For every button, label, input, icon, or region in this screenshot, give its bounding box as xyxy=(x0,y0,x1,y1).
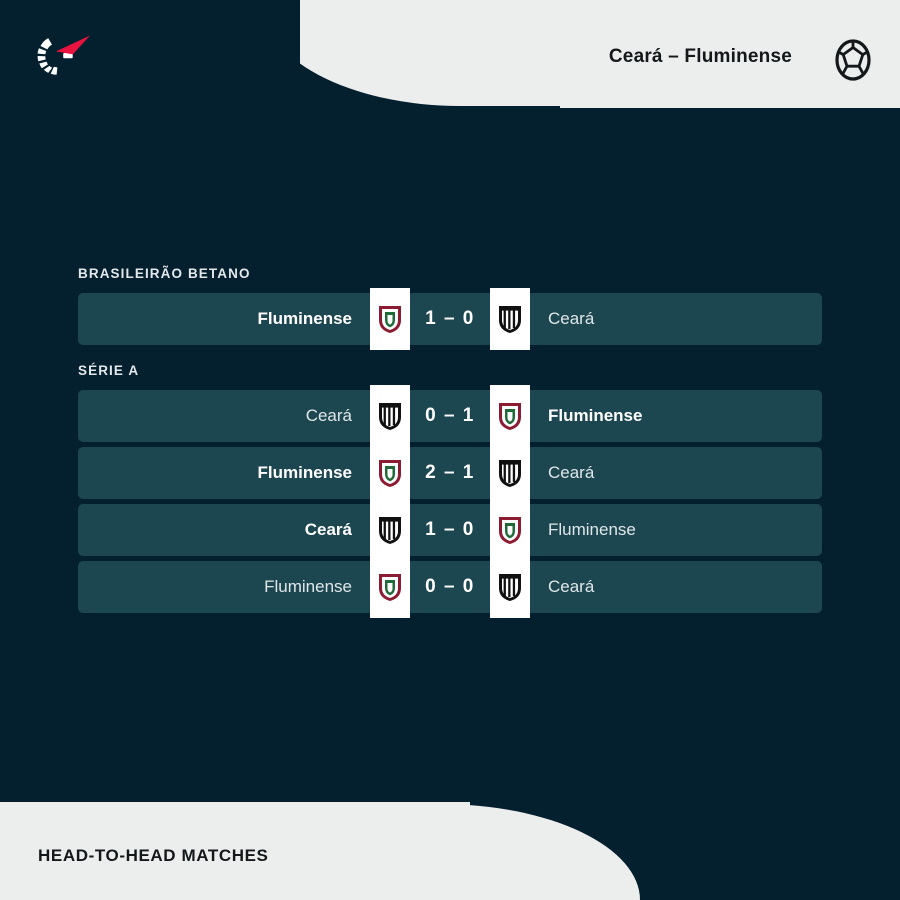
fluminense-crest xyxy=(370,556,410,618)
match-score: 0 – 1 xyxy=(410,405,490,427)
fluminense-crest xyxy=(490,499,530,561)
ceara-crest xyxy=(490,442,530,504)
home-team-name: Fluminense xyxy=(100,577,370,597)
away-team-name: Ceará xyxy=(530,309,800,329)
ceara-crest xyxy=(490,288,530,350)
match-row[interactable]: Ceará 0 – 1 xyxy=(78,390,822,442)
competition-label: SÉRIE A xyxy=(78,363,822,378)
ceara-crest xyxy=(370,385,410,447)
match-row[interactable]: Fluminense 0 – 0 xyxy=(78,561,822,613)
header-panel-tail xyxy=(560,100,900,108)
match-row[interactable]: Fluminense 1 – 0 xyxy=(78,293,822,345)
match-row[interactable]: Fluminense 2 – 1 xyxy=(78,447,822,499)
onefootball-logo[interactable] xyxy=(28,26,92,84)
match-score: 1 – 0 xyxy=(410,519,490,541)
away-team-name: Fluminense xyxy=(530,520,800,540)
ceara-crest xyxy=(370,499,410,561)
home-team-name: Ceará xyxy=(100,406,370,426)
competition-label: BRASILEIRÃO BETANO xyxy=(78,266,822,281)
away-team-name: Ceará xyxy=(530,463,800,483)
home-team-name: Fluminense xyxy=(100,309,370,329)
fluminense-crest xyxy=(370,288,410,350)
page-title: Ceará – Fluminense xyxy=(609,46,792,68)
match-score: 1 – 0 xyxy=(410,308,490,330)
match-score: 2 – 1 xyxy=(410,462,490,484)
footer-title: HEAD-TO-HEAD MATCHES xyxy=(38,846,268,866)
head-to-head-card: Ceará – Fluminense BRASILEIRÃO BETANO Fl… xyxy=(0,0,900,900)
fluminense-crest xyxy=(490,385,530,447)
home-team-name: Fluminense xyxy=(100,463,370,483)
ceara-crest xyxy=(490,556,530,618)
soccer-ball-icon xyxy=(830,37,876,83)
header-panel xyxy=(260,0,900,106)
away-team-name: Fluminense xyxy=(530,406,800,426)
home-team-name: Ceará xyxy=(100,520,370,540)
match-row[interactable]: Ceará 1 – 0 xyxy=(78,504,822,556)
away-team-name: Ceará xyxy=(530,577,800,597)
match-score: 0 – 0 xyxy=(410,576,490,598)
matches-list: BRASILEIRÃO BETANO Fluminense 1 – 0 xyxy=(78,266,822,618)
fluminense-crest xyxy=(370,442,410,504)
